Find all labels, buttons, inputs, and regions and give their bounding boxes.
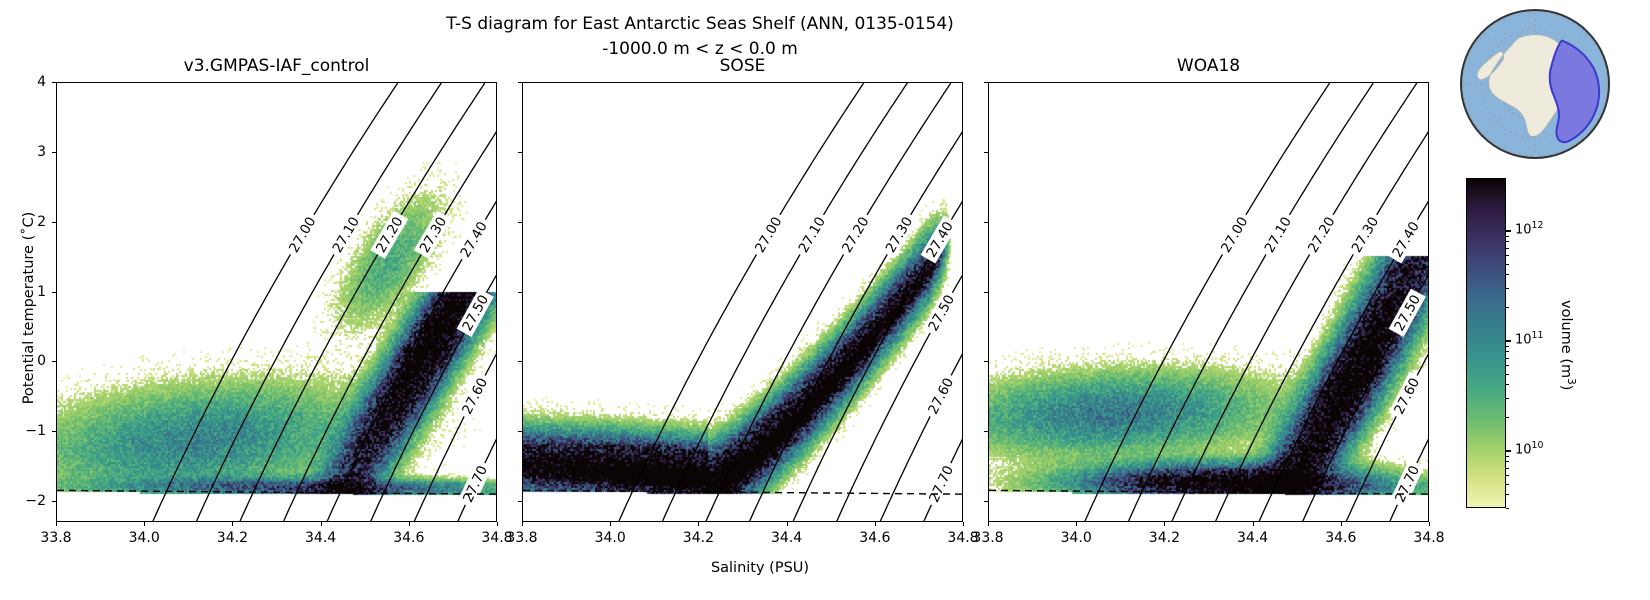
contour-label: 27.30 <box>417 214 450 255</box>
panel-model-xtick-label: 33.8 <box>40 530 71 546</box>
panel-model-density-contours: 27.0027.1027.2027.3027.4027.5027.6027.70 <box>57 83 497 522</box>
figure-root: T-S diagram for East Antarctic Seas Shel… <box>0 0 1650 600</box>
contour-label: 27.60 <box>1391 375 1423 417</box>
panel-model-xtick-mark <box>56 522 57 526</box>
colorbar-minor-tick <box>1506 468 1509 469</box>
contour-label: 27.60 <box>925 375 957 417</box>
panel-sose-xtick-label: 34.4 <box>771 530 802 546</box>
panel-model-ytick-mark <box>52 501 56 502</box>
panel-model-xtick-mark <box>497 522 498 526</box>
panel-sose-xtick-mark <box>698 522 699 526</box>
panel-sose-ytick-mark <box>518 222 522 223</box>
panel-model-ytick-label: −1 <box>14 423 46 439</box>
colorbar-minor-tick <box>1506 358 1509 359</box>
contour-label: 27.00 <box>1218 214 1251 255</box>
panel-woa18-xtick-label: 34.2 <box>1149 530 1180 546</box>
colorbar-minor-tick <box>1506 508 1509 509</box>
colorbar-minor-tick <box>1506 456 1509 457</box>
suptitle-line-1: T-S diagram for East Antarctic Seas Shel… <box>446 14 954 34</box>
colorbar <box>1466 178 1506 508</box>
panel-woa18-xtick-mark <box>1429 522 1430 526</box>
colorbar-minor-tick <box>1506 374 1509 375</box>
panel-model-ytick-label: 3 <box>14 144 46 160</box>
panel-woa18-xtick-label: 34.0 <box>1061 530 1092 546</box>
density-contour-line <box>618 83 864 522</box>
density-contour-line <box>1171 83 1417 522</box>
contour-label: 27.20 <box>839 214 872 255</box>
panel-woa18-ytick-mark <box>984 222 988 223</box>
panel-woa18-xtick-mark <box>988 522 989 526</box>
contour-label: 27.10 <box>329 214 362 255</box>
colorbar-minor-tick <box>1506 236 1509 237</box>
contour-label: 27.20 <box>1305 214 1338 255</box>
panel-sose-density-contours: 27.0027.1027.2027.3027.4027.5027.6027.70 <box>523 83 963 522</box>
colorbar-label: volume (m3) <box>1558 300 1574 390</box>
density-contour-line <box>705 83 951 522</box>
panel-sose-xtick-label: 34.0 <box>595 530 626 546</box>
colorbar-minor-tick <box>1506 288 1509 289</box>
panel-woa18-ytick-mark <box>984 152 988 153</box>
colorbar-tick-base: 10 <box>1515 443 1532 458</box>
contour-label: 27.70 <box>1392 463 1423 505</box>
contour-label: 27.10 <box>795 214 828 255</box>
density-contour-line <box>152 83 398 522</box>
panel-woa18-ytick-mark <box>984 431 988 432</box>
panel-sose-ytick-mark <box>518 152 522 153</box>
contour-label: 27.70 <box>460 463 491 505</box>
panel-woa18-axes: 27.0027.1027.2027.3027.4027.5027.6027.70 <box>988 82 1429 522</box>
panel-model-xtick-mark <box>321 522 322 526</box>
panel-woa18-ytick-mark <box>984 361 988 362</box>
panel-model-xtick-label: 34.4 <box>305 530 336 546</box>
colorbar-minor-tick <box>1506 346 1509 347</box>
panel-model-ytick-label: 4 <box>14 74 46 90</box>
density-contour-line <box>196 83 442 522</box>
contour-label: 27.40 <box>1389 219 1422 260</box>
panel-sose-ytick-mark <box>518 292 522 293</box>
panel-model-ytick-mark <box>52 82 56 83</box>
panel-woa18-xtick-label: 34.6 <box>1325 530 1356 546</box>
colorbar-label-tail: ) <box>1558 385 1574 391</box>
colorbar-minor-tick <box>1506 274 1509 275</box>
panel-woa18-ytick-mark <box>984 292 988 293</box>
colorbar-minor-tick <box>1506 248 1509 249</box>
panel-model-xtick-mark <box>144 522 145 526</box>
colorbar-minor-tick <box>1506 475 1509 476</box>
panel-sose-xtick-mark <box>522 522 523 526</box>
panel-sose-xtick-mark <box>610 522 611 526</box>
colorbar-tick-label: 1012 <box>1515 223 1543 238</box>
colorbar-minor-tick <box>1506 264 1509 265</box>
colorbar-minor-tick <box>1506 307 1509 308</box>
panel-sose-xtick-label: 34.2 <box>683 530 714 546</box>
freezing-point-line <box>523 490 963 494</box>
panel-model-ytick-label: 2 <box>14 214 46 230</box>
colorbar-tick-label: 1010 <box>1515 443 1543 458</box>
panel-model-title: v3.GMPAS-IAF_control <box>56 56 497 76</box>
panel-model-xtick-label: 34.0 <box>129 530 160 546</box>
contour-label: 27.40 <box>457 219 490 260</box>
panel-woa18-density-contours: 27.0027.1027.2027.3027.4027.5027.6027.70 <box>989 83 1429 522</box>
panel-woa18-xtick-label: 33.8 <box>972 530 1003 546</box>
panel-model-xtick-label: 34.6 <box>393 530 424 546</box>
y-axis-label: Potential temperature (˚C) <box>21 198 37 418</box>
contour-label: 27.70 <box>926 463 957 505</box>
contour-label: 27.50 <box>925 292 958 334</box>
colorbar-minor-tick <box>1506 484 1509 485</box>
colorbar-tick-label: 1011 <box>1515 333 1543 348</box>
panel-model-ytick-label: 1 <box>14 284 46 300</box>
panel-sose-ytick-mark <box>518 361 522 362</box>
panel-woa18-xtick-mark <box>1341 522 1342 526</box>
contour-label: 27.50 <box>459 292 492 334</box>
panel-woa18-xtick-label: 34.8 <box>1413 530 1444 546</box>
colorbar-minor-tick <box>1506 241 1509 242</box>
panel-woa18-xtick-mark <box>1076 522 1077 526</box>
colorbar-minor-tick <box>1506 398 1509 399</box>
colorbar-tick-exponent: 10 <box>1532 441 1544 452</box>
panel-model-ytick-mark <box>52 361 56 362</box>
panel-woa18-xtick-mark <box>1253 522 1254 526</box>
colorbar-minor-tick <box>1506 494 1509 495</box>
locator-map-svg <box>1459 8 1611 160</box>
density-contour-line <box>283 83 497 522</box>
colorbar-tick-mark <box>1506 340 1511 341</box>
panel-sose-xtick-mark <box>875 522 876 526</box>
panel-sose-xtick-mark <box>963 522 964 526</box>
panel-model-ytick-label: 0 <box>14 353 46 369</box>
colorbar-minor-tick <box>1506 365 1509 366</box>
panel-model-ytick-mark <box>52 292 56 293</box>
colorbar-label-text: volume (m <box>1558 300 1574 378</box>
panel-sose-ytick-mark <box>518 501 522 502</box>
panel-woa18-title: WOA18 <box>988 56 1429 76</box>
colorbar-tick-base: 10 <box>1515 223 1532 238</box>
contour-label: 27.00 <box>752 214 785 255</box>
colorbar-label-exponent: 3 <box>1565 378 1577 385</box>
contour-label: 27.40 <box>923 219 956 260</box>
panel-sose-title: SOSE <box>522 56 963 76</box>
panel-sose-ytick-mark <box>518 82 522 83</box>
contour-label: 27.60 <box>459 375 491 417</box>
colorbar-minor-tick <box>1506 417 1509 418</box>
figure-suptitle: T-S diagram for East Antarctic Seas Shel… <box>0 12 1400 62</box>
panel-model-axes: 27.0027.1027.2027.3027.4027.5027.6027.70 <box>56 82 497 522</box>
density-contour-line <box>749 83 963 522</box>
density-contour-line <box>1215 83 1429 522</box>
panel-sose-ytick-mark <box>518 431 522 432</box>
contour-label: 27.30 <box>1349 214 1382 255</box>
colorbar-tick-exponent: 12 <box>1532 221 1544 232</box>
contour-label: 27.00 <box>286 214 319 255</box>
freezing-point-line <box>57 490 497 494</box>
panel-sose-xtick-label: 33.8 <box>506 530 537 546</box>
density-contour-line <box>1128 83 1374 522</box>
panel-model-ytick-mark <box>52 431 56 432</box>
colorbar-minor-tick <box>1506 461 1509 462</box>
colorbar-minor-tick <box>1506 255 1509 256</box>
panel-model-ytick-mark <box>52 222 56 223</box>
contour-label: 27.50 <box>1391 292 1424 334</box>
contour-label: 27.30 <box>883 214 916 255</box>
colorbar-tick-mark <box>1506 450 1511 451</box>
antarctic-region-locator-map <box>1459 8 1611 160</box>
freezing-point-line <box>989 490 1429 494</box>
panel-model-xtick-mark <box>409 522 410 526</box>
colorbar-minor-tick <box>1506 351 1509 352</box>
colorbar-tick-exponent: 11 <box>1532 331 1544 342</box>
density-contour-line <box>239 83 485 522</box>
panel-woa18-xtick-mark <box>1164 522 1165 526</box>
colorbar-tick-mark <box>1506 230 1511 231</box>
panel-woa18-ytick-mark <box>984 501 988 502</box>
density-contour-line <box>662 83 908 522</box>
colorbar-tick-base: 10 <box>1515 333 1532 348</box>
panel-sose-xtick-label: 34.6 <box>859 530 890 546</box>
panel-model-ytick-mark <box>52 152 56 153</box>
contour-label: 27.10 <box>1261 214 1294 255</box>
x-axis-label: Salinity (PSU) <box>600 560 920 576</box>
density-contour-line <box>1084 83 1330 522</box>
panel-model-ytick-label: −2 <box>14 493 46 509</box>
panel-model-xtick-label: 34.2 <box>217 530 248 546</box>
colorbar-minor-tick <box>1506 384 1509 385</box>
contour-label: 27.20 <box>373 214 406 255</box>
panel-model-xtick-mark <box>232 522 233 526</box>
panel-sose-xtick-mark <box>787 522 788 526</box>
panel-woa18-ytick-mark <box>984 82 988 83</box>
panel-woa18-xtick-label: 34.4 <box>1237 530 1268 546</box>
panel-sose-axes: 27.0027.1027.2027.3027.4027.5027.6027.70 <box>522 82 963 522</box>
